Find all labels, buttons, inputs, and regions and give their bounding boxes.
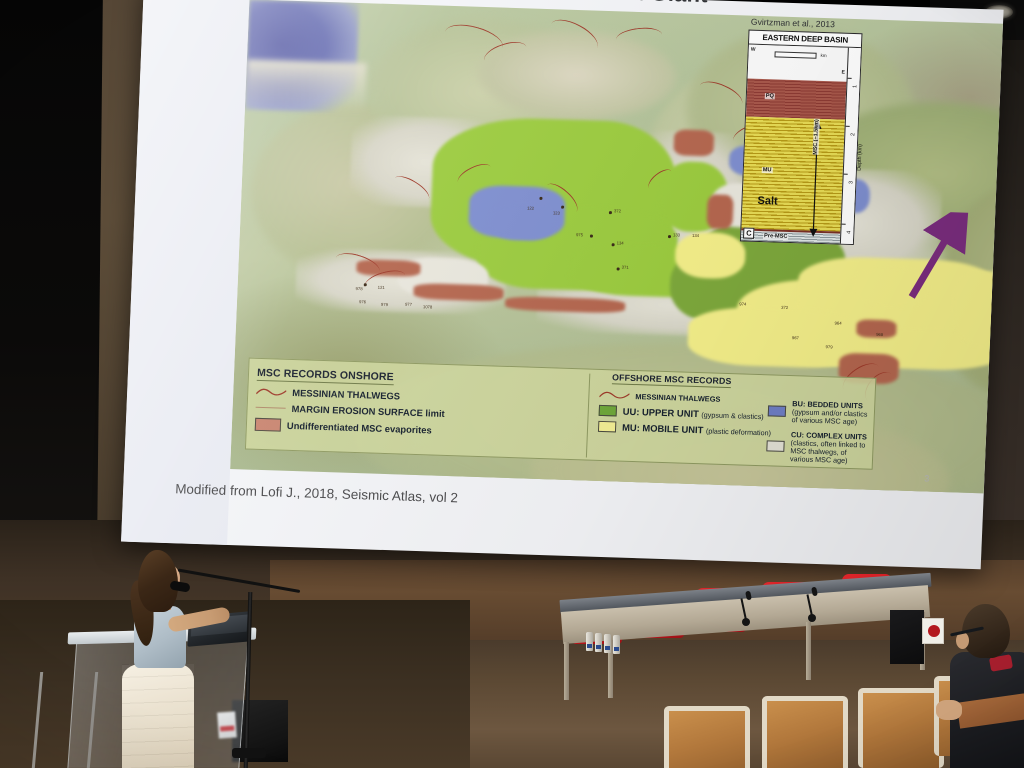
desk-microphone: [742, 618, 750, 626]
site-label: 964: [834, 320, 841, 325]
water-bottle: [613, 635, 620, 654]
presenter-skirt: [122, 664, 194, 768]
biscay-shelf: [245, 59, 367, 113]
av-equipment-case: [890, 610, 924, 664]
inset-unit-pq-label: PQ: [765, 93, 775, 99]
audience-seat: [762, 696, 848, 768]
projection-screen: Mediterranean Salt Giant: [121, 0, 1004, 569]
site-dot: [561, 206, 564, 209]
legend-item: MESSINIAN THALWEGS: [599, 390, 768, 405]
inset-premsc-label: Pre-MSC: [763, 233, 789, 240]
legend-onshore-heading: MSC RECORDS ONSHORE: [257, 367, 394, 385]
depth-tick: [842, 224, 846, 225]
legend-offshore-heading: OFFSHORE MSC RECORDS: [612, 372, 732, 388]
water-bottle: [604, 634, 611, 653]
thalweg-squiggle-icon: [256, 386, 286, 397]
legend-item: MU: MOBILE UNIT (plastic deformation): [598, 421, 767, 437]
legend-item-label: CU: COMPLEX UNITS (clastics, often linke…: [790, 431, 871, 465]
site-label: 968: [876, 332, 883, 337]
depth-tick-label: 1: [852, 85, 858, 88]
depth-tick-label: 3: [848, 181, 854, 184]
audience-member: [948, 604, 1024, 768]
depth-tick: [846, 126, 850, 127]
depth-tick: [844, 174, 848, 175]
audience-seat: [858, 688, 944, 768]
layer-pq: [746, 79, 847, 120]
legend-swatch-cu: [766, 441, 784, 453]
depth-tick-label: 2: [850, 133, 856, 136]
site-dot: [617, 267, 620, 270]
auditorium-scene: Mediterranean Salt Giant: [0, 0, 1024, 768]
site-label: 976: [359, 299, 366, 304]
depth-tick-label: 4: [846, 231, 852, 234]
site-label: 978: [356, 286, 363, 291]
legend-item: BU: BEDDED UNITS (gypsum and/or clastics…: [767, 399, 872, 426]
inset-panel-letter: C: [743, 227, 755, 238]
legend-item-label: MARGIN EROSION SURFACE limit: [291, 403, 445, 419]
site-label: 133: [673, 232, 680, 237]
site-dot: [609, 211, 612, 214]
site-label: 371: [622, 265, 629, 270]
audience-hand: [936, 700, 962, 720]
site-label: 979: [826, 344, 833, 349]
legend-swatch-uu: [599, 405, 617, 417]
water-bottle: [586, 632, 593, 651]
depth-tick: [848, 78, 852, 79]
seismic-inset-panel: Gvirtzman et al., 2013 EASTERN DEEP BASI…: [740, 30, 863, 249]
slide-page-number: 3: [924, 473, 929, 483]
site-label: 1078: [423, 304, 433, 309]
inset-salt-label: Salt: [756, 195, 779, 208]
inset-west-label: W: [751, 47, 756, 53]
legend-offshore-column: OFFSHORE MSC RECORDS MESSINIAN THALWEGS …: [586, 374, 769, 464]
podium-rail: [32, 672, 98, 768]
inset-east-label: E: [841, 70, 845, 76]
site-label: 122: [527, 205, 534, 210]
layer-pre-msc: [741, 228, 840, 243]
microphone-base: [232, 748, 266, 758]
site-label: 977: [405, 302, 412, 307]
site-label: 975: [576, 232, 583, 237]
site-label: 372: [614, 208, 621, 213]
water-bottle: [595, 633, 602, 652]
site-label: 134: [692, 233, 699, 238]
presentation-slide: Mediterranean Salt Giant: [121, 0, 1004, 569]
site-dot: [590, 235, 593, 238]
evaporites-po: [673, 129, 714, 156]
wall-sign: [922, 618, 944, 644]
purple-arrow-icon: [898, 211, 972, 303]
inset-scale-unit: km: [820, 53, 826, 58]
site-label: 121: [378, 285, 385, 290]
legend-swatch-bu: [768, 405, 786, 417]
legend-swatch-evaporites: [255, 418, 282, 432]
table-leg: [564, 642, 569, 700]
site-dot: [539, 197, 542, 200]
legend-item: UU: UPPER UNIT (gypsum & clastics): [599, 405, 768, 421]
unit-bu-balearic-promontory: [490, 203, 555, 241]
audience-seat: [664, 706, 750, 768]
layer-water: [748, 45, 848, 82]
legend-swatch-mu: [598, 421, 616, 433]
unit-mu-sicily-ch: [674, 231, 746, 279]
evaporites-apennines: [706, 194, 733, 229]
legend-item-label: MESSINIAN THALWEGS: [635, 392, 720, 404]
inset-seismic-body: W E km PQ MU Salt Pre-MSC C: [741, 45, 848, 244]
inset-frame: EASTERN DEEP BASIN W E km PQ MU Salt: [740, 30, 863, 246]
site-label: 372: [781, 305, 788, 310]
table-leg: [806, 622, 811, 680]
legend-item-label: BU: BEDDED UNITS (gypsum and/or clastics…: [791, 400, 872, 426]
desk-microphone: [808, 614, 816, 622]
site-label: 967: [792, 335, 799, 340]
legend-item-label: MESSINIAN THALWEGS: [292, 387, 400, 401]
site-label: 123: [553, 210, 560, 215]
inset-unit-mu-label: MU: [762, 167, 773, 173]
margin-erosion-line-icon: [256, 407, 286, 409]
site-label: 134: [617, 240, 624, 245]
site-label: 974: [739, 301, 746, 306]
thalweg-squiggle-icon: [599, 390, 629, 401]
legend-item-label: Undifferentiated MSC evaporites: [287, 420, 432, 436]
site-dot: [668, 235, 671, 238]
layer-mu-salt: [741, 116, 845, 231]
thalweg-po: [615, 26, 663, 49]
legend-item-label: UU: UPPER UNIT (gypsum & clastics): [623, 406, 764, 422]
legend-item-label: MU: MOBILE UNIT (plastic deformation): [622, 422, 771, 438]
legend-onshore-column: MSC RECORDS ONSHORE MESSINIAN THALWEGS M…: [255, 363, 582, 441]
site-dot: [364, 283, 367, 286]
site-dot: [612, 243, 615, 246]
legend-item: CU: COMPLEX UNITS (clastics, often linke…: [766, 431, 871, 465]
legend-offshore-column-2: BU: BEDDED UNITS (gypsum and/or clastics…: [766, 379, 873, 465]
site-label: 979: [381, 302, 388, 307]
wall-left-dark: [0, 0, 104, 560]
